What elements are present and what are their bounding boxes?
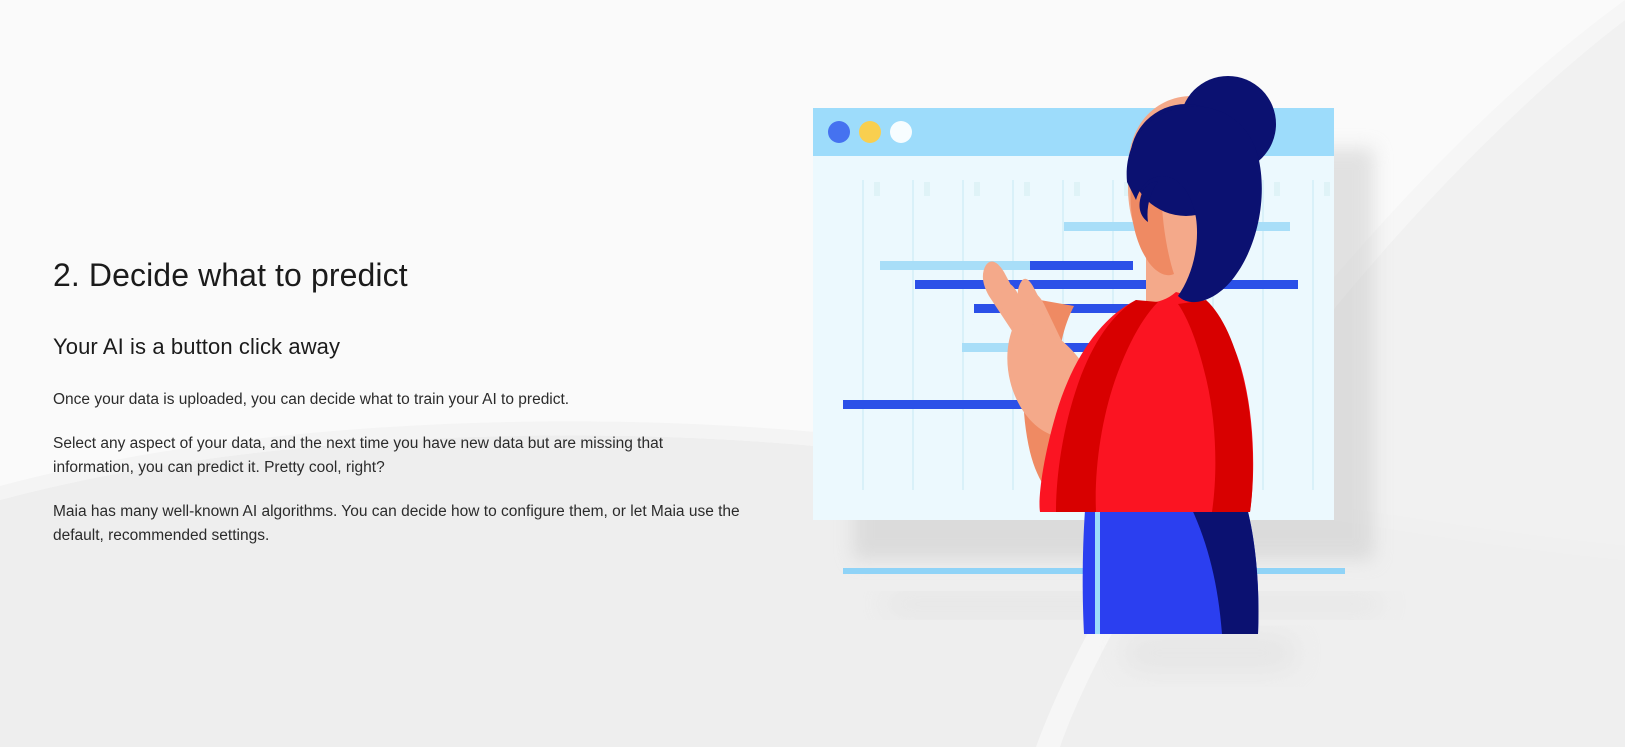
figure-hair-bun bbox=[1180, 76, 1276, 172]
figure-skirt-stripe bbox=[1095, 509, 1100, 634]
body-paragraph-2: Select any aspect of your data, and the … bbox=[53, 432, 745, 480]
chart-bar-row4-strong bbox=[974, 304, 1135, 313]
chart-bar-row5-strong bbox=[1052, 343, 1110, 352]
window-dot-blue-icon[interactable] bbox=[828, 121, 850, 143]
body-paragraph-1: Once your data is uploaded, you can deci… bbox=[53, 388, 745, 412]
chart-bar-row5-light bbox=[962, 343, 1052, 352]
section-subtitle: Your AI is a button click away bbox=[53, 333, 753, 362]
figure-head bbox=[1128, 96, 1252, 277]
chart-bar-row6-strong bbox=[843, 400, 1065, 409]
window-dot-yellow-icon[interactable] bbox=[859, 121, 881, 143]
figure-arm-skin bbox=[1023, 300, 1104, 512]
window-body bbox=[813, 108, 1334, 520]
background-sweep-right-edge bbox=[1036, 0, 1625, 747]
figure-skirt-shadow bbox=[1186, 497, 1258, 634]
figure-top-shadow-left bbox=[1056, 300, 1158, 512]
chart-bar-row1-light bbox=[1064, 222, 1290, 231]
background-sweep-right bbox=[1060, 20, 1625, 747]
figure-hair-wisp bbox=[1139, 182, 1158, 222]
body-paragraph-3: Maia has many well-known AI algorithms. … bbox=[53, 500, 745, 548]
chart-bar-row3-strong-b bbox=[1258, 280, 1298, 289]
chart-ticks bbox=[874, 182, 1330, 196]
figure-hair bbox=[1127, 107, 1262, 303]
chart-bar-row3-strong bbox=[915, 280, 1258, 289]
presentation-window bbox=[813, 108, 1334, 520]
chart-gridlines bbox=[863, 180, 1313, 490]
chart-baseline bbox=[843, 568, 1345, 574]
figure-neck bbox=[1146, 240, 1196, 342]
figure-top-shadow-right bbox=[1178, 300, 1253, 512]
figure-top bbox=[1040, 292, 1254, 512]
figure-hair-bun-lower bbox=[1130, 104, 1242, 216]
figure-face-shadow bbox=[1131, 178, 1174, 275]
window-shadow bbox=[853, 148, 1374, 560]
window-titlebar bbox=[813, 108, 1334, 156]
page-title: 2. Decide what to predict bbox=[53, 255, 753, 295]
figure-hand bbox=[983, 261, 1095, 414]
page-root: 2. Decide what to predict Your AI is a b… bbox=[0, 0, 1625, 747]
window-dot-white-icon[interactable] bbox=[890, 121, 912, 143]
chart-bar-row2-light bbox=[880, 261, 1032, 270]
presenter-figure bbox=[983, 76, 1276, 634]
floor-shadow bbox=[884, 596, 1384, 670]
figure-skirt bbox=[1083, 497, 1259, 634]
gantt-chart bbox=[843, 180, 1330, 490]
chart-bars bbox=[843, 222, 1298, 409]
text-column: 2. Decide what to predict Your AI is a b… bbox=[53, 255, 753, 548]
figure-palm bbox=[1007, 323, 1096, 437]
chart-bar-row2-strong bbox=[1030, 261, 1133, 270]
